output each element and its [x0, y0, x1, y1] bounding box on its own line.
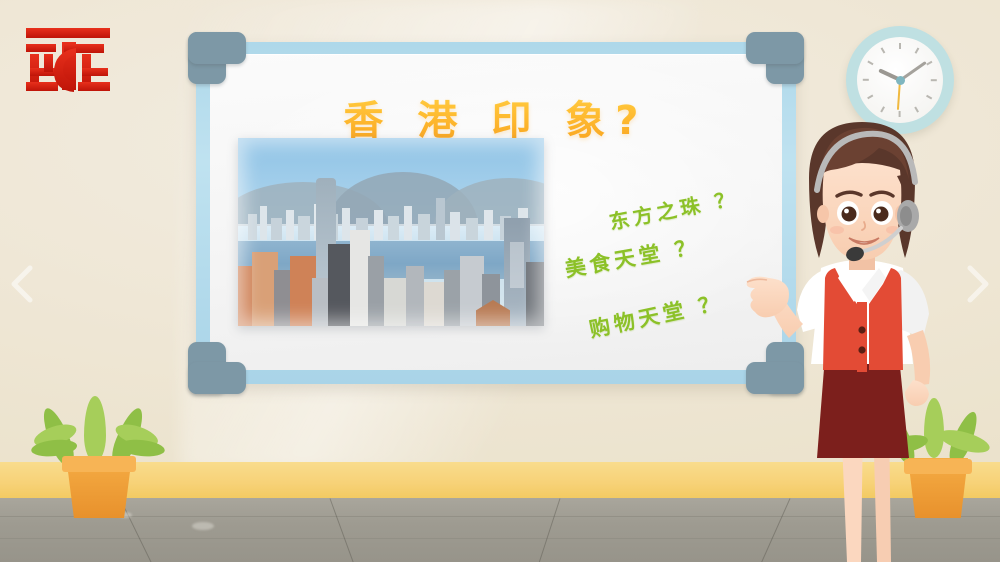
board-corner-bottom-left	[188, 342, 246, 394]
brand-seal-logo	[20, 24, 116, 100]
clock-face	[857, 37, 943, 123]
slide-stage: 香 港 印 象?	[0, 0, 1000, 562]
prev-slide-button[interactable]	[6, 262, 40, 306]
whiteboard[interactable]: 香 港 印 象?	[196, 42, 796, 384]
eye-right	[874, 207, 889, 222]
next-slide-button[interactable]	[960, 262, 994, 306]
vest-button-2	[858, 346, 865, 353]
eye-left	[842, 207, 857, 222]
vest-button-1	[858, 326, 865, 333]
board-corner-top-right	[746, 32, 804, 84]
cartoon-presenter	[745, 118, 975, 562]
board-corner-top-left	[188, 32, 246, 84]
potted-plant-left	[32, 396, 166, 518]
hong-kong-skyline-photo	[238, 138, 544, 326]
clock-center-pin	[896, 76, 905, 85]
